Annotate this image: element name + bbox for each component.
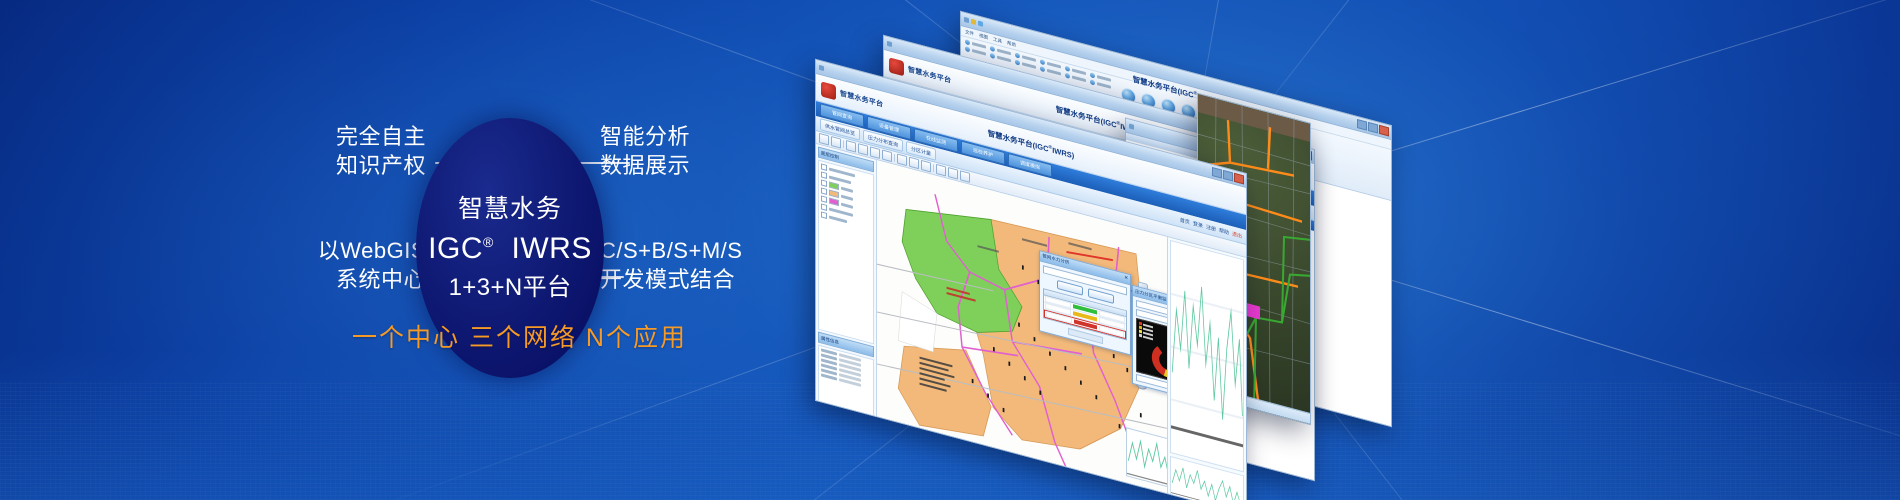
close-button[interactable]: [1234, 173, 1244, 185]
search-icon[interactable]: [960, 170, 970, 183]
legend-swatch-green: [829, 181, 839, 190]
legend-icon[interactable]: [948, 167, 958, 180]
product-iwrs: IWRS: [512, 232, 592, 265]
feature-top-right-line2: 数据展示: [600, 151, 690, 180]
app-icon: [964, 17, 969, 23]
select-icon[interactable]: [882, 150, 892, 163]
command-icon: [1090, 72, 1095, 78]
registered-mark-icon: ®: [483, 234, 494, 250]
maximize-button[interactable]: [1223, 170, 1233, 182]
water-drop-logo-icon: [821, 81, 836, 100]
center-product-name: IGC® IWRS: [428, 232, 592, 267]
checkbox-icon[interactable]: [821, 211, 827, 219]
open-icon[interactable]: [819, 133, 829, 146]
app-icon: [819, 65, 824, 71]
front-footer-text: 智慧水务平台 版权所有 © 技术支持: [996, 465, 1066, 490]
platform-diagram: 完全自主 知识产权 以WebGIS 系统中心 智能分析 数据展示 C/S+B/S…: [280, 100, 800, 400]
feature-bottom-left-line2: 系统中心: [280, 265, 426, 294]
legend-swatch-magenta: [829, 197, 839, 206]
checkbox-icon[interactable]: [821, 163, 827, 171]
center-cn-title: 智慧水务: [458, 195, 562, 224]
app-icon: [887, 41, 892, 47]
feature-top-right-line1: 智能分析: [600, 124, 690, 149]
toolbar-separator: [843, 140, 844, 148]
command-icon: [1065, 73, 1070, 79]
mid-brand-text: 智慧水务平台: [908, 64, 951, 85]
gis-right-chart-column: [1167, 237, 1246, 500]
application-screenshots: 文件 视图 工具 帮助: [795, 20, 1885, 490]
command-icon: [965, 46, 970, 52]
dialog-close-icon[interactable]: ✕: [1124, 275, 1128, 282]
feature-bottom-left-line1: 以WebGIS: [318, 238, 426, 263]
command-label: [1072, 75, 1086, 82]
link-login[interactable]: 登录: [1193, 219, 1203, 229]
tagline: 一个中心 三个网络 N个应用: [352, 318, 687, 354]
trend-line-chart: [1171, 241, 1243, 471]
front-title-tail: IWRS): [1052, 145, 1074, 160]
checkbox-icon[interactable]: [821, 187, 827, 195]
menu-item-help[interactable]: 帮助: [1007, 40, 1016, 48]
tree-label: [829, 215, 847, 223]
app-icon: [1129, 123, 1134, 129]
zoom-out-icon[interactable]: [858, 143, 868, 156]
feature-top-right: 智能分析 数据展示: [600, 122, 690, 180]
command-label: [1097, 82, 1111, 89]
feature-bottom-left: 以WebGIS 系统中心: [280, 236, 426, 294]
tree-label: [841, 202, 853, 208]
status-ready: 就绪: [820, 408, 829, 416]
maximize-button[interactable]: [1368, 122, 1378, 134]
command-label: [1022, 62, 1036, 69]
toolbar-separator: [894, 154, 895, 162]
link-home[interactable]: 首页: [1180, 216, 1190, 226]
supply-volume-donut-chart: [1151, 340, 1167, 383]
command-icon: [1015, 52, 1020, 58]
command-label: [1047, 69, 1061, 76]
checkbox-icon[interactable]: [821, 179, 827, 187]
tree-label: [841, 186, 853, 192]
command-icon: [1090, 79, 1095, 85]
product-igc: IGC: [428, 232, 483, 265]
toolbar-separator: [933, 164, 934, 172]
center-platform-label: 1+3+N平台: [449, 274, 572, 302]
link-register[interactable]: 注册: [1206, 223, 1216, 233]
feature-top-left-line1: 完全自主: [336, 124, 426, 149]
link-logout[interactable]: 退出: [1232, 230, 1242, 240]
feature-bottom-right: C/S+B/S+M/S 开发模式结合: [600, 236, 742, 294]
legend-dot-grey: [1139, 334, 1142, 338]
command-label: [972, 49, 986, 56]
pan-icon[interactable]: [870, 146, 880, 159]
checkbox-icon[interactable]: [821, 171, 827, 179]
gis-side-panels[interactable]: 图层控制 属性信息: [816, 144, 877, 420]
command-icon: [1040, 66, 1045, 72]
feature-bottom-right-line1: C/S+B/S+M/S: [600, 238, 742, 263]
attribute-table[interactable]: [818, 345, 874, 418]
menu-item-tools[interactable]: 工具: [993, 36, 1002, 44]
command-icon: [990, 46, 995, 52]
close-button[interactable]: [1379, 125, 1389, 137]
minimize-button[interactable]: [1212, 167, 1222, 179]
zoom-in-icon[interactable]: [846, 140, 856, 153]
command-label: [997, 56, 1011, 63]
save-icon[interactable]: [831, 136, 841, 149]
checkbox-icon[interactable]: [821, 203, 827, 211]
identify-icon[interactable]: [909, 157, 919, 170]
command-icon: [1015, 59, 1020, 65]
feature-top-left: 完全自主 知识产权: [296, 122, 426, 180]
feature-top-left-line2: 知识产权: [296, 151, 426, 180]
command-icon: [1065, 66, 1070, 72]
front-brand-text: 智慧水务平台: [840, 88, 883, 109]
menu-item-file[interactable]: 文件: [965, 29, 974, 37]
legend-swatch-orange: [829, 189, 839, 198]
link-help[interactable]: 帮助: [1219, 226, 1229, 236]
checkbox-icon[interactable]: [821, 195, 827, 203]
measure-icon[interactable]: [897, 153, 907, 166]
undo-icon[interactable]: [978, 21, 983, 27]
layer-tree[interactable]: [818, 160, 874, 345]
print-icon[interactable]: [921, 160, 931, 173]
command-icon: [990, 53, 995, 59]
command-icon: [965, 39, 970, 45]
feature-bottom-right-line2: 开发模式结合: [600, 265, 742, 294]
tree-label: [841, 194, 853, 200]
menu-item-view[interactable]: 视图: [979, 32, 988, 40]
layer-icon[interactable]: [936, 164, 946, 177]
command-icon: [1040, 59, 1045, 65]
save-icon[interactable]: [971, 19, 976, 25]
water-drop-logo-icon: [889, 57, 904, 76]
status-coords: 坐标 X:0 Y:0: [866, 420, 891, 433]
pie-legend: [1139, 322, 1153, 341]
hero-banner: 完全自主 知识产权 以WebGIS 系统中心 智能分析 数据展示 C/S+B/S…: [0, 0, 1900, 500]
minimize-button[interactable]: [1357, 119, 1367, 131]
status-scale: 比例尺 1:5000: [833, 412, 862, 426]
right-trend-chart: [1170, 240, 1244, 473]
